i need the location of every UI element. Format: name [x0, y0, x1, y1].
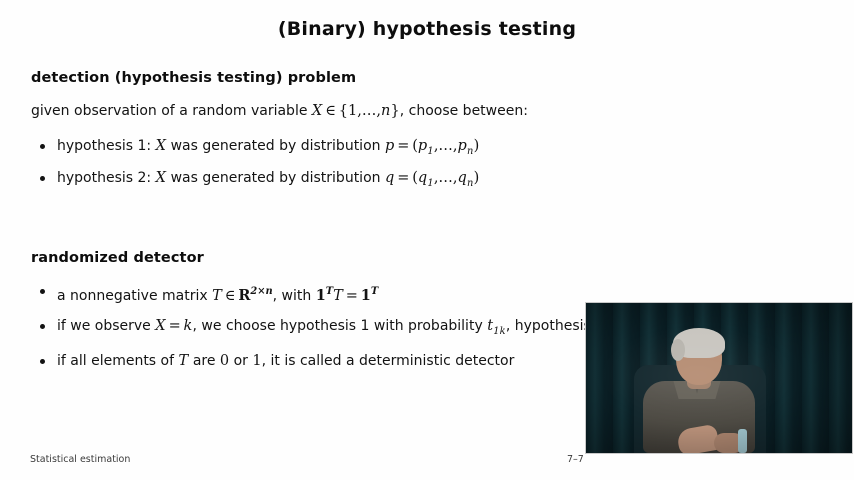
bullet-dot-icon: [40, 144, 45, 149]
math-matrix-T: T: [212, 288, 222, 304]
page-title: (Binary) hypothesis testing: [0, 18, 854, 40]
math-equals: =: [397, 170, 409, 186]
footer-course-title: Statistical estimation: [30, 454, 130, 465]
text-3: or: [229, 353, 252, 369]
intro-statement: given observation of a random variable X…: [31, 103, 528, 119]
math-ones-vector: 1T: [316, 287, 333, 304]
detector-bullet-3-text: if all elements of T are 0 or 1, it is c…: [57, 353, 514, 369]
math-dist-q1: q1: [418, 170, 434, 186]
text-mid: was generated by distribution: [166, 138, 385, 154]
math-ellipsis: ,…,: [434, 170, 458, 186]
bullet-dot-icon: [40, 359, 45, 364]
text-before: hypothesis 1:: [57, 138, 156, 154]
hypothesis-1-text: hypothesis 1: X was generated by distrib…: [57, 138, 479, 154]
text-mid: was generated by distribution: [166, 170, 385, 186]
math-set-open: {1,…,: [339, 103, 381, 119]
intro-text-1: given observation of a random variable: [31, 103, 312, 119]
text-4: , it is called a deterministic detector: [262, 353, 515, 369]
math-variable-k: k: [184, 318, 193, 334]
detector-bullet-1-text: a nonnegative matrix T ∈ R2×n, with 1TT …: [57, 288, 378, 304]
math-variable-X: X: [156, 170, 167, 186]
math-ellipsis: ,…,: [434, 138, 458, 154]
math-variable-X: X: [312, 103, 323, 119]
list-item: hypothesis 1: X was generated by distrib…: [36, 137, 479, 161]
math-equals: =: [169, 318, 181, 334]
math-variable-X: X: [155, 318, 166, 334]
math-matrix-T: T: [179, 353, 189, 369]
math-t-1k: t1k: [487, 318, 506, 334]
bullet-dot-icon: [40, 176, 45, 181]
math-equals: =: [346, 288, 358, 304]
math-equals: =: [397, 138, 409, 154]
section-heading-detection: detection (hypothesis testing) problem: [31, 70, 356, 86]
section-heading-randomized: randomized detector: [31, 250, 204, 266]
math-set-close: }: [390, 103, 399, 119]
math-dist-p: p: [385, 138, 394, 154]
math-dist-p1: p1: [418, 138, 434, 154]
math-element-of: ∈: [325, 103, 336, 119]
text-1: if all elements of: [57, 353, 179, 369]
math-matrix-T2: T: [333, 288, 343, 304]
bullet-dot-icon: [40, 324, 45, 329]
math-element-of: ∈: [225, 288, 236, 304]
text-before: hypothesis 2:: [57, 170, 156, 186]
math-zero: 0: [220, 353, 229, 369]
text-1: a nonnegative matrix: [57, 288, 212, 304]
math-dist-q: q: [385, 170, 394, 186]
footer-page-number: 7–7: [567, 454, 584, 465]
math-one: 1: [252, 353, 261, 369]
lecture-slide: (Binary) hypothesis testing detection (h…: [0, 0, 854, 480]
math-reals-R: R2×n: [238, 287, 272, 304]
math-ones-vector-2: 1T: [361, 287, 378, 304]
hypothesis-2-text: hypothesis 2: X was generated by distrib…: [57, 170, 479, 186]
video-vignette: [586, 303, 852, 453]
intro-text-2: , choose between:: [400, 103, 528, 119]
bullet-dot-icon: [40, 289, 45, 294]
text-2: , with: [273, 288, 316, 304]
lecture-video-overlay[interactable]: [586, 303, 852, 453]
text-2: , we choose hypothesis 1 with probabilit…: [193, 318, 488, 334]
math-paren-close: ): [474, 170, 480, 186]
text-2: are: [188, 353, 220, 369]
list-item: hypothesis 2: X was generated by distrib…: [36, 169, 479, 193]
math-variable-X: X: [156, 138, 167, 154]
math-dist-pn: pn: [458, 138, 474, 154]
hypothesis-bullet-list: hypothesis 1: X was generated by distrib…: [36, 137, 479, 201]
text-3: ,: [506, 318, 510, 334]
math-dist-qn: qn: [458, 170, 474, 186]
text-1: if we observe: [57, 318, 155, 334]
math-paren-close: ): [474, 138, 480, 154]
